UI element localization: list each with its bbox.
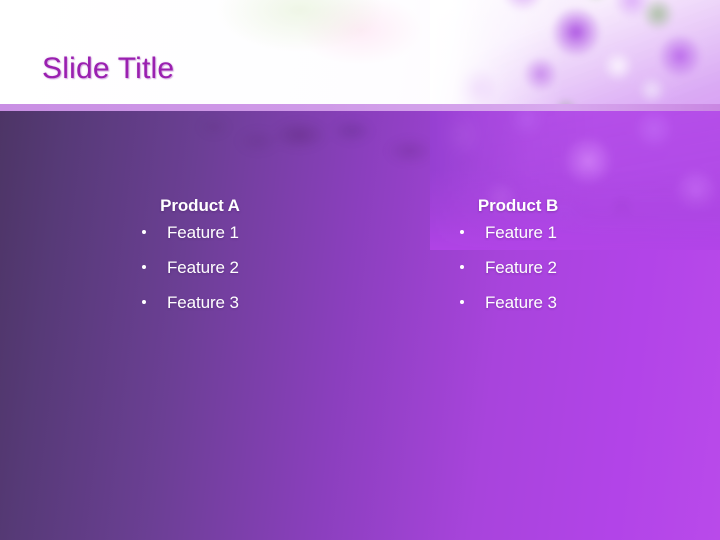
content-column-product-a: Product A Feature 1 Feature 2 Feature 3 bbox=[70, 196, 330, 328]
presentation-slide: Slide Title Product A Feature 1 Feature … bbox=[0, 0, 720, 540]
bullet-dot-icon bbox=[142, 230, 146, 234]
slide-title: Slide Title bbox=[42, 52, 174, 86]
list-item: Feature 2 bbox=[388, 258, 648, 293]
feature-label: Feature 1 bbox=[167, 223, 239, 243]
bullet-dot-icon bbox=[142, 265, 146, 269]
header-divider-bar bbox=[0, 104, 720, 111]
list-item: Feature 2 bbox=[70, 258, 330, 293]
feature-label: Feature 2 bbox=[485, 258, 557, 278]
bullet-dot-icon bbox=[460, 230, 464, 234]
content-column-product-b: Product B Feature 1 Feature 2 Feature 3 bbox=[388, 196, 648, 328]
slide-content-area: Product A Feature 1 Feature 2 Feature 3 … bbox=[0, 111, 720, 540]
bullet-dot-icon bbox=[142, 300, 146, 304]
list-item: Feature 3 bbox=[70, 293, 330, 328]
feature-label: Feature 3 bbox=[167, 293, 239, 313]
list-item: Feature 1 bbox=[70, 223, 330, 258]
bullet-dot-icon bbox=[460, 265, 464, 269]
list-item: Feature 1 bbox=[388, 223, 648, 258]
bullet-dot-icon bbox=[460, 300, 464, 304]
feature-list-product-b: Feature 1 Feature 2 Feature 3 bbox=[388, 223, 648, 328]
feature-label: Feature 3 bbox=[485, 293, 557, 313]
feature-list-product-a: Feature 1 Feature 2 Feature 3 bbox=[70, 223, 330, 328]
feature-label: Feature 2 bbox=[167, 258, 239, 278]
list-item: Feature 3 bbox=[388, 293, 648, 328]
column-heading-product-a: Product A bbox=[70, 196, 330, 216]
column-heading-product-b: Product B bbox=[388, 196, 648, 216]
feature-label: Feature 1 bbox=[485, 223, 557, 243]
